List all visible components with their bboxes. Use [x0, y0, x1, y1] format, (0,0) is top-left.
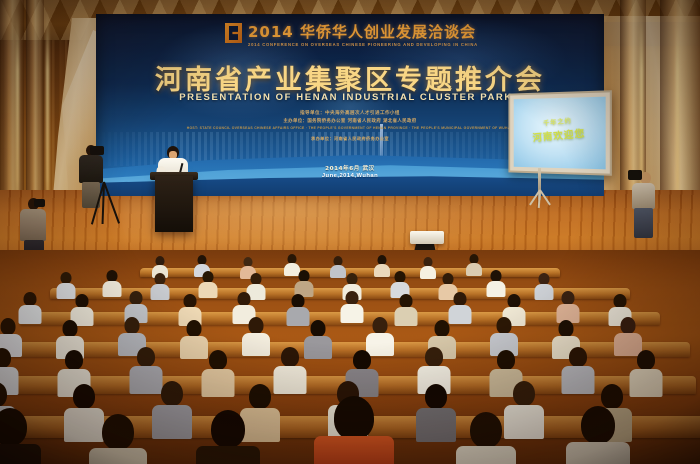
stage-projector [410, 231, 444, 244]
lectern [155, 176, 193, 232]
screen-leg-left [539, 189, 551, 205]
dslr-camera-icon [628, 170, 642, 180]
auditorium-photo: 2014 华侨华人创业发展洽谈会 2014 CONFERENCE ON OVER… [0, 0, 700, 464]
conference-emblem-icon [225, 23, 242, 43]
video-camera-icon [90, 146, 104, 155]
conference-name-en: 2014 CONFERENCE ON OVERSEAS CHINESE PION… [248, 42, 498, 48]
slide-text-main: 河南欢迎您 [532, 129, 585, 145]
handheld-camera-icon [34, 199, 45, 207]
conference-name-cn: 2014 华侨华人创业发展洽谈会 [248, 22, 488, 42]
tripod-projection-screen: 千年之约 河南欢迎您 [508, 90, 611, 176]
screen-tripod-legs [518, 190, 562, 206]
screen-leg-center [538, 190, 541, 208]
camera-tripod-left [86, 182, 122, 224]
projection-screen-surface: 千年之约 河南欢迎您 [514, 97, 606, 170]
slide-text: 千年之约 河南欢迎您 [513, 111, 607, 147]
